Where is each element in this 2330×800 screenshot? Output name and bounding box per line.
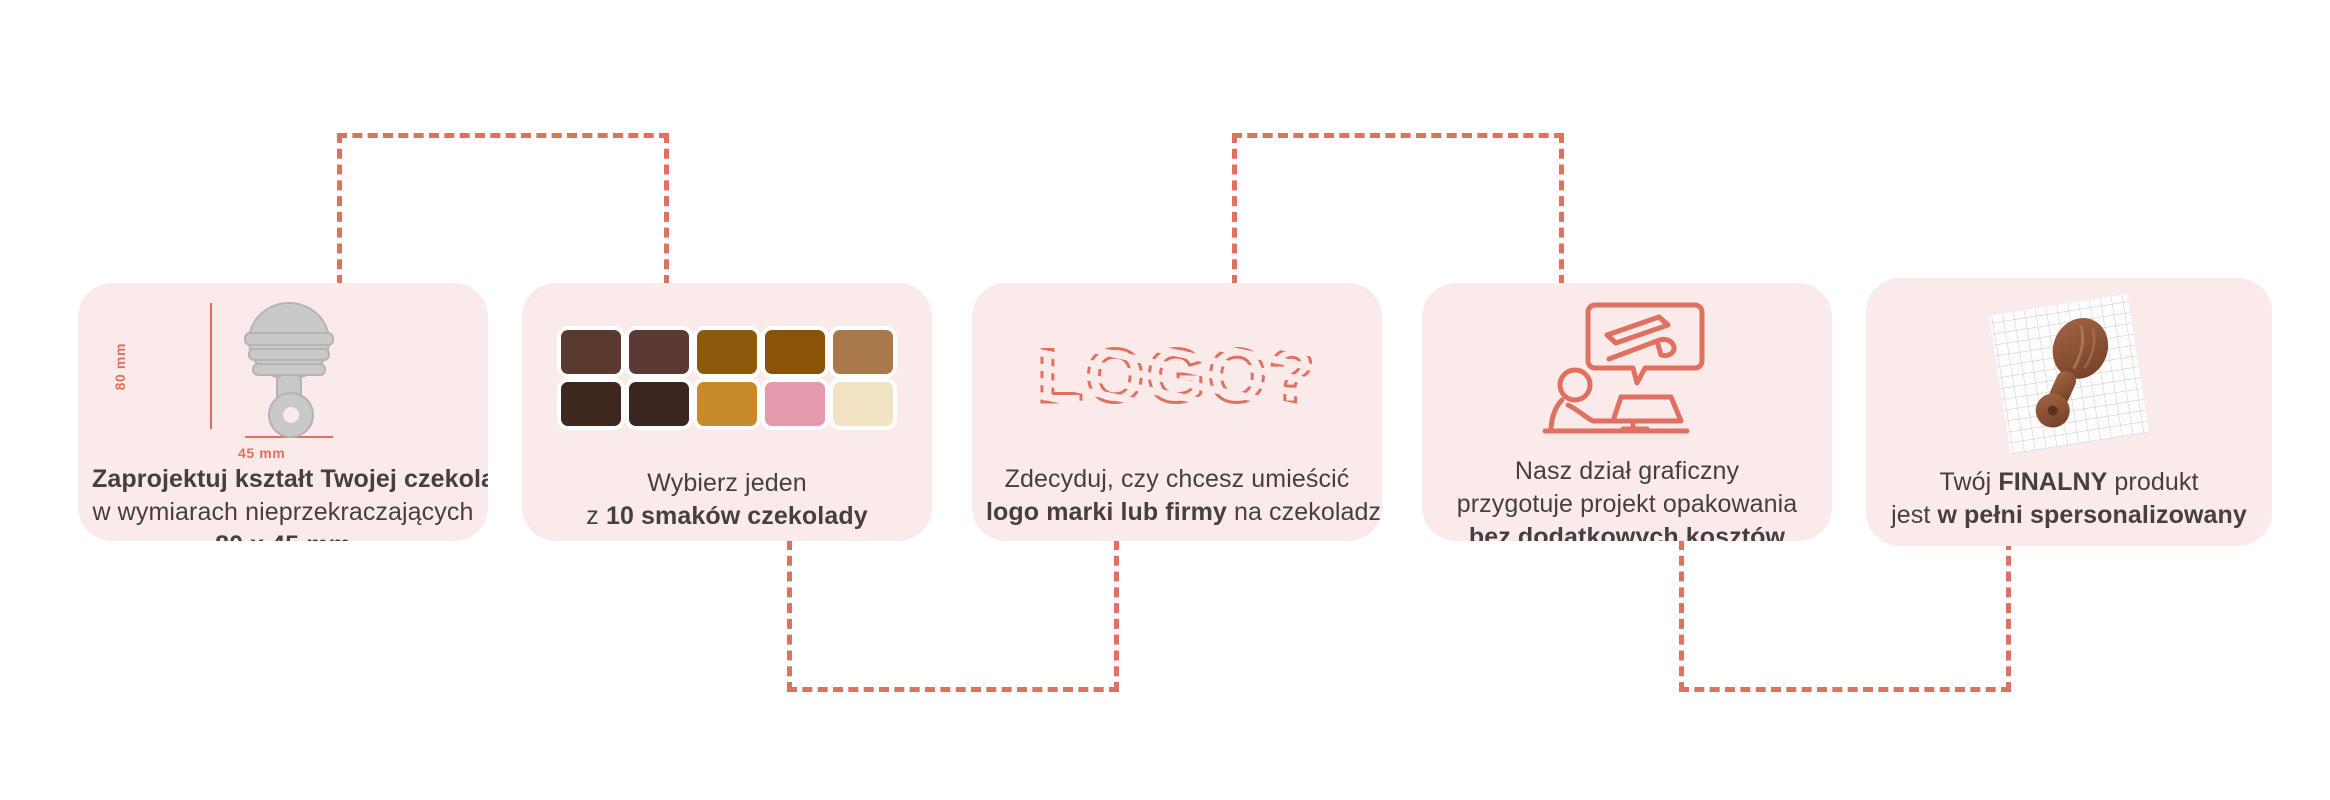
swatch-caramel-gold[interactable]: [697, 330, 757, 374]
step-5-line-1: Twój FINALNY produkt: [1880, 466, 2258, 499]
step-2-line-2: z 10 smaków czekolady: [536, 500, 918, 533]
connector-segment-vertical-right: [2006, 540, 2011, 692]
step-3-line-2: logo marki lub firmy na czekoladzie: [986, 496, 1368, 529]
dimension-height-label: 80 mm: [112, 343, 128, 390]
connector-segment-vertical-left: [787, 540, 792, 692]
step-card-final: Twój FINALNY produkt jest w pełni sperso…: [1866, 278, 2272, 546]
step-2-line-2-prefix: z: [586, 502, 606, 530]
step-3-line-2-suffix: na czekoladzie: [1227, 498, 1382, 526]
connector-top-3-4: [1232, 133, 1564, 285]
step-3-line-2-bold: logo marki lub firmy: [986, 498, 1227, 526]
swatch-hazelnut-tan[interactable]: [833, 330, 893, 374]
connector-bottom-4-5: [1679, 540, 2011, 692]
step-5-line-2-bold: w pełni spersonalizowany: [1937, 501, 2246, 529]
step-card-final-text: Twój FINALNY produkt jest w pełni sperso…: [1866, 466, 2272, 532]
step-4-line-3: bez dodatkowych kosztów: [1436, 521, 1818, 541]
step-1-line-2: w wymiarach nieprzekraczających: [92, 496, 474, 529]
step-4-line-1: Nasz dział graficzny: [1436, 455, 1818, 488]
step-5-line-2: jest w pełni spersonalizowany: [1880, 499, 2258, 532]
chocolate-rattle-blueprint-icon: 80 mm 45 mm: [78, 297, 488, 457]
designer-at-laptop-icon: [1422, 297, 1832, 447]
swatch-white-chocolate-cream[interactable]: [833, 382, 893, 426]
step-2-line-1: Wybierz jeden: [536, 467, 918, 500]
step-card-logo: LOGO? Zdecyduj, czy chcesz umieścić logo…: [972, 283, 1382, 541]
swatch-bitter-dark[interactable]: [561, 382, 621, 426]
step-card-graphics-text: Nasz dział graficzny przygotuje projekt …: [1422, 455, 1832, 541]
step-card-flavours: Wybierz jeden z 10 smaków czekolady: [522, 283, 932, 541]
step-2-line-2-bold: 10 smaków czekolady: [606, 502, 868, 530]
step-5-line-1-suffix: produkt: [2107, 468, 2198, 496]
step-1-line-3: 80 x 45 mm: [92, 529, 474, 541]
swatch-grid: [561, 330, 893, 426]
connector-top-1-2: [337, 133, 669, 285]
connector-segment-horizontal: [1232, 133, 1564, 138]
infographic-canvas: 80 mm 45 mm Zaprojektuj kształt Twojej c…: [0, 0, 2330, 800]
connector-segment-vertical-left: [1679, 540, 1684, 692]
step-card-shape-text: Zaprojektuj kształt Twojej czekolady w w…: [78, 463, 488, 541]
step-card-logo-text: Zdecyduj, czy chcesz umieścić logo marki…: [972, 463, 1382, 529]
dashed-logo-outline-icon: LOGO?: [972, 301, 1382, 451]
connector-segment-horizontal: [787, 687, 1119, 692]
connector-segment-vertical-right: [1114, 540, 1119, 692]
step-1-line-1: Zaprojektuj kształt Twojej czekolady: [92, 463, 474, 496]
step-5-line-1-bold: FINALNY: [1998, 468, 2107, 496]
step-5-line-1-prefix: Twój: [1939, 468, 1998, 496]
connector-segment-horizontal: [1679, 687, 2011, 692]
step-3-line-1: Zdecyduj, czy chcesz umieścić: [986, 463, 1368, 496]
step-card-graphics: Nasz dział graficzny przygotuje projekt …: [1422, 283, 1832, 541]
chocolate-rattle-photo-icon: [1866, 290, 2272, 458]
connector-segment-vertical-left: [1232, 133, 1237, 285]
step-card-shape: 80 mm 45 mm Zaprojektuj kształt Twojej c…: [78, 283, 488, 541]
logo-outline-wrap: LOGO?: [1037, 333, 1317, 420]
swatch-milk-chocolate[interactable]: [561, 330, 621, 374]
chocolate-swatch-grid-icon: [522, 303, 932, 453]
connector-segment-vertical-right: [1559, 133, 1564, 285]
swatch-strawberry-pink[interactable]: [765, 382, 825, 426]
swatch-dark-cocoa[interactable]: [629, 330, 689, 374]
step-4-line-2: przygotuje projekt opakowania: [1436, 488, 1818, 521]
connector-segment-vertical-left: [337, 133, 342, 285]
swatch-amber-brown[interactable]: [765, 330, 825, 374]
step-5-line-2-prefix: jest: [1891, 501, 1937, 529]
swatch-extra-dark[interactable]: [629, 382, 689, 426]
logo-outline-text: LOGO?: [1037, 334, 1317, 419]
connector-segment-horizontal: [337, 133, 669, 138]
connector-segment-vertical-right: [664, 133, 669, 285]
step-card-flavours-text: Wybierz jeden z 10 smaków czekolady: [522, 467, 932, 533]
connector-bottom-2-3: [787, 540, 1119, 692]
dimension-width-label: 45 mm: [238, 445, 285, 461]
swatch-honey-amber[interactable]: [697, 382, 757, 426]
